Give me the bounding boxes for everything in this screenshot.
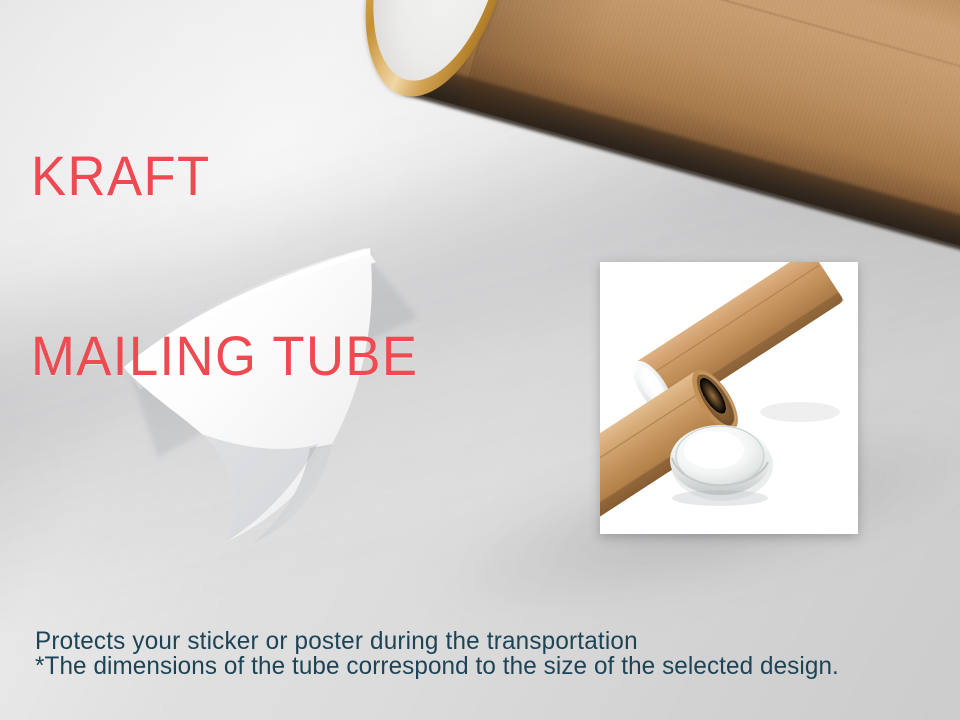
product-banner: KRAFT MAILING TUBE Protects your sticker…	[0, 0, 960, 720]
inset-photo	[600, 262, 858, 534]
title-line-1: KRAFT	[31, 146, 418, 206]
product-detail-inset	[600, 262, 858, 534]
footnote-text: *The dimensions of the tube correspond t…	[35, 650, 839, 682]
page-title: KRAFT MAILING TUBE	[31, 26, 418, 506]
title-line-2: MAILING TUBE	[31, 326, 418, 386]
feature-copy: Protects your sticker or poster during t…	[35, 556, 696, 720]
